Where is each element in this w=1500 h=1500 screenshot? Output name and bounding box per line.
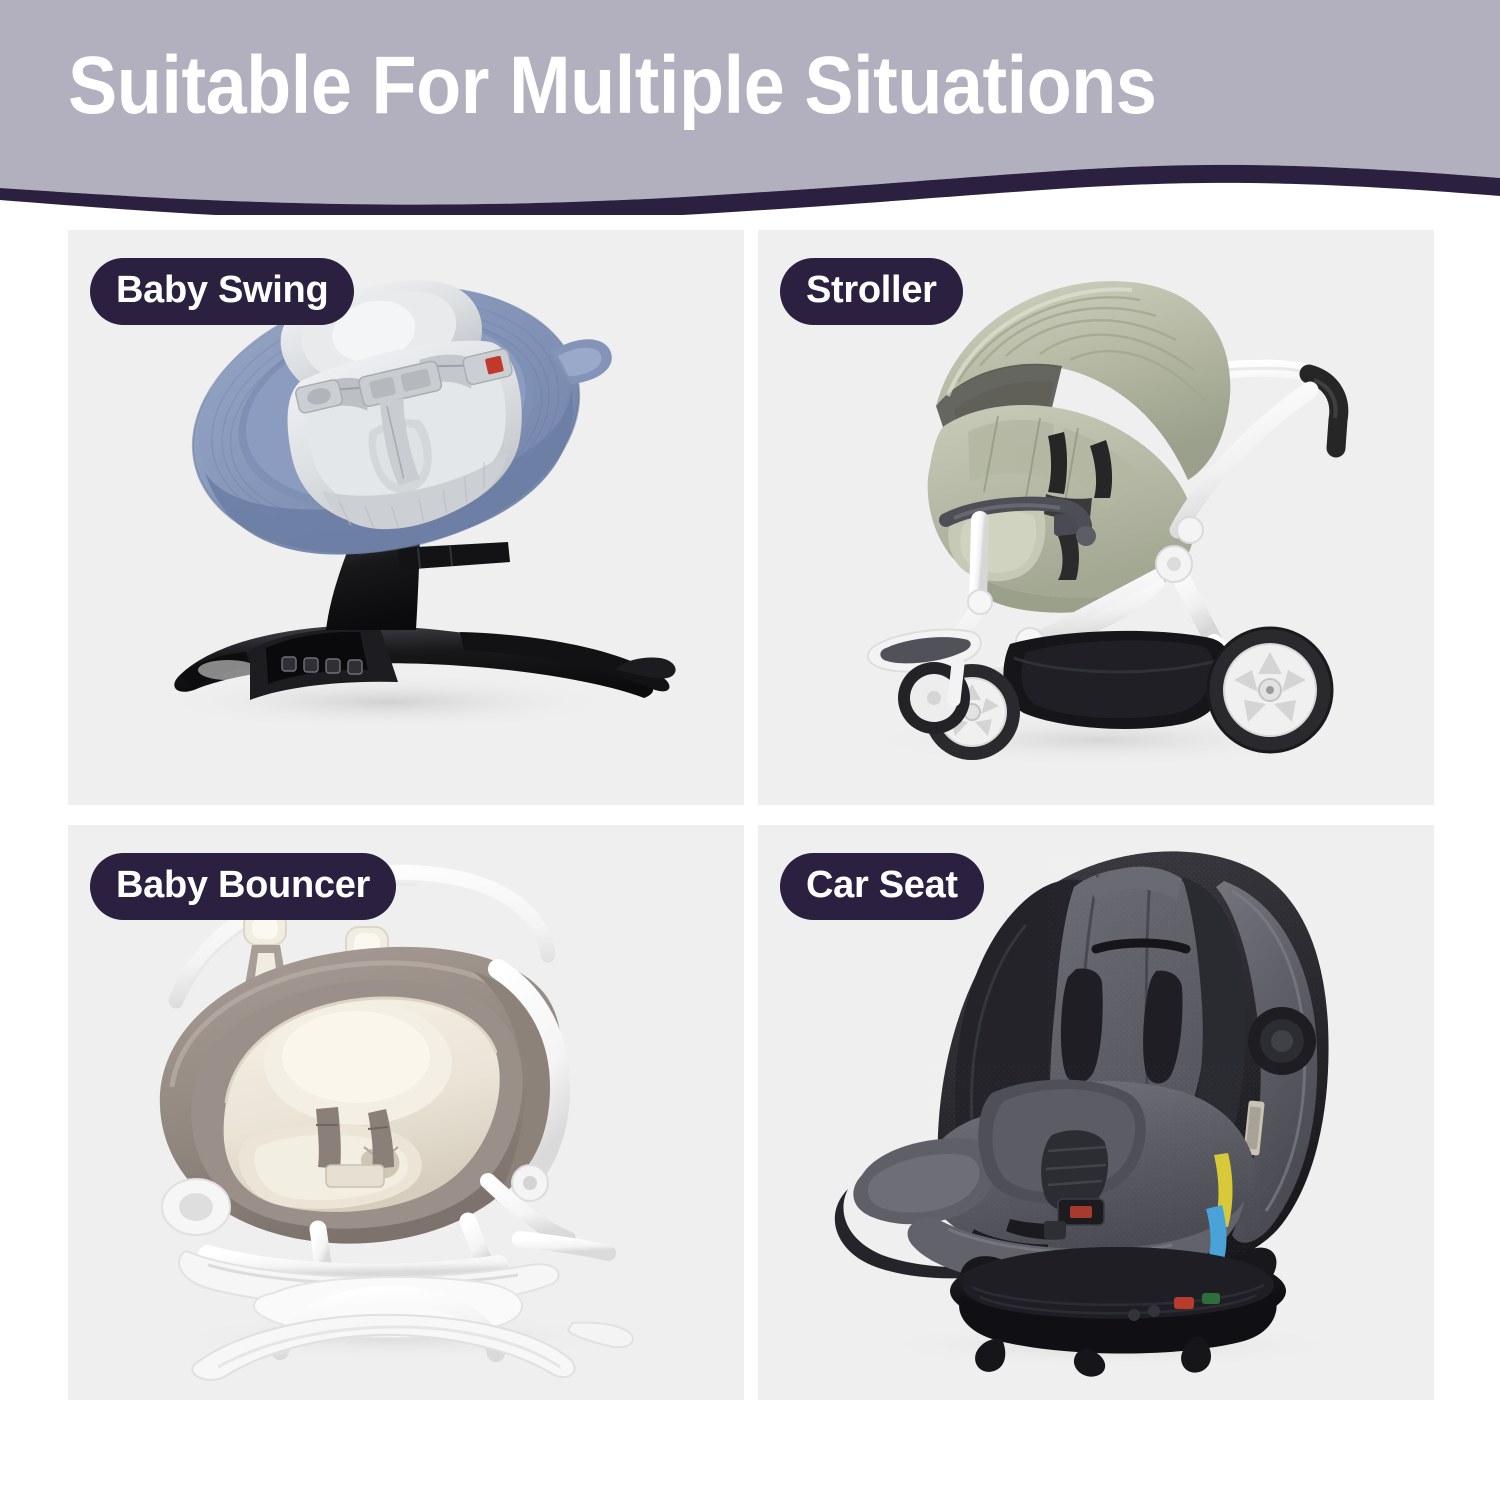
badge-car-seat: Car Seat [780, 853, 984, 920]
badge-baby-bouncer: Baby Bouncer [90, 853, 396, 920]
panel-car-seat[interactable]: Car Seat [758, 825, 1434, 1400]
situations-grid: Baby Swing [68, 230, 1434, 1410]
badge-stroller: Stroller [780, 258, 963, 325]
header-banner: Suitable For Multiple Situations [0, 0, 1500, 215]
panel-baby-bouncer[interactable]: Baby Bouncer [68, 825, 744, 1400]
panel-baby-swing[interactable]: Baby Swing [68, 230, 744, 805]
badge-baby-swing: Baby Swing [90, 258, 354, 325]
panel-stroller[interactable]: Stroller [758, 230, 1434, 805]
stroller-rear-wheel [1208, 628, 1332, 752]
infographic-page: Suitable For Multiple Situations [0, 0, 1500, 1500]
page-title: Suitable For Multiple Situations [68, 44, 1157, 128]
